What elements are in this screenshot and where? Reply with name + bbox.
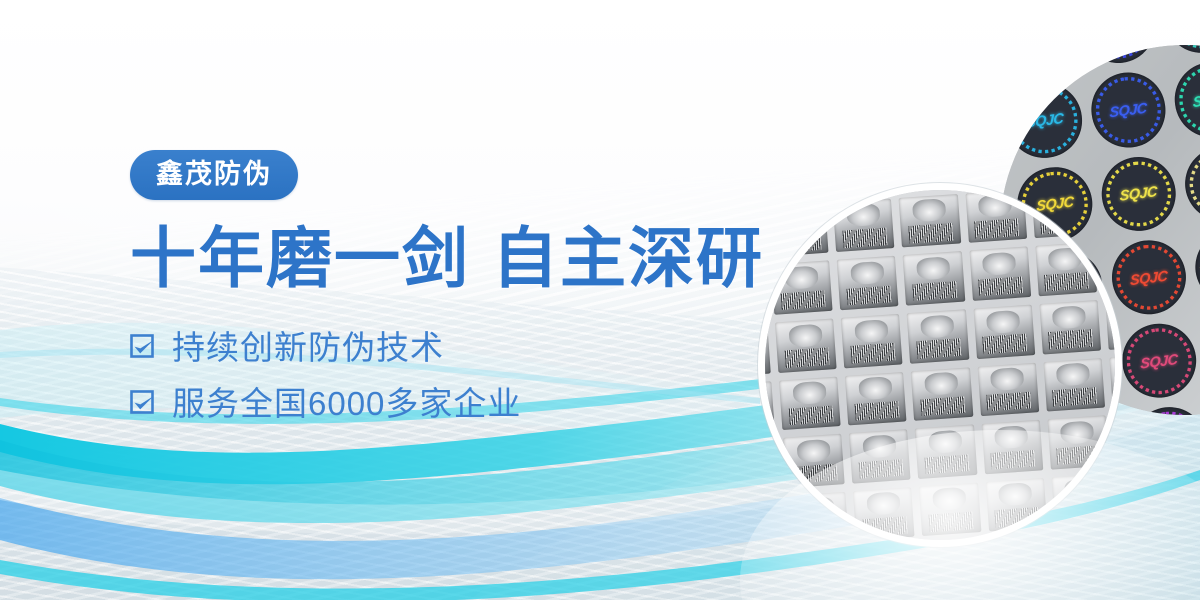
holo-label: SQJC: [1107, 236, 1190, 319]
holo-label: SQJC: [1127, 403, 1200, 415]
holo-label: SQJC: [1170, 58, 1200, 141]
silver-label: [973, 304, 1035, 358]
silver-label: [915, 425, 977, 479]
holo-label: SQJC: [1180, 142, 1200, 225]
silver-label: [907, 309, 969, 363]
page-title: 十年磨一剑自主深研: [130, 224, 770, 293]
silver-label: [911, 367, 973, 421]
silver-label: [787, 492, 849, 546]
holo-label-text: SQJC: [1193, 89, 1200, 111]
silver-label: [903, 251, 965, 305]
promo-banner: SQJC SQJC SQJC SQJC SQJC SQJC SQJC SQJC …: [0, 0, 1200, 600]
checkbox-checked-icon: [130, 334, 156, 360]
silver-label: [899, 194, 961, 248]
silver-label: [767, 203, 829, 257]
holo-label-text: SQJC: [1109, 99, 1146, 121]
silver-label: [841, 314, 903, 368]
silver-label: [977, 362, 1039, 416]
checkbox-checked-icon: [130, 390, 156, 416]
holo-label-text: SQJC: [1130, 266, 1167, 288]
silver-label: [845, 371, 907, 425]
silver-label: [775, 318, 837, 372]
silver-label: [1035, 242, 1097, 296]
list-item: 服务全国6000多家企业: [130, 375, 770, 431]
headline-part-2: 自主深研: [492, 221, 764, 295]
holo-label-text: SQJC: [1140, 350, 1177, 372]
feature-list: 持续创新防伪技术 服务全国6000多家企业: [130, 319, 770, 431]
list-item: 持续创新防伪技术: [130, 319, 770, 375]
holo-label: SQJC: [1160, 45, 1200, 57]
silver-label: [981, 420, 1043, 474]
silver-label: [965, 189, 1027, 243]
list-item-label: 服务全国6000多家企业: [172, 387, 521, 420]
silver-label: [985, 478, 1047, 532]
headline-part-1: 十年磨一剑: [130, 221, 470, 295]
silver-label-grid: [758, 183, 1122, 547]
silver-label: [919, 482, 981, 536]
silver-label: [833, 198, 895, 252]
holo-label: SQJC: [1191, 225, 1200, 308]
silver-label: [783, 434, 845, 488]
silver-label: [1047, 415, 1109, 469]
holo-label-text: SQJC: [1025, 109, 1062, 131]
silver-label: [837, 256, 899, 310]
silver-security-labels-photo: [758, 183, 1122, 547]
silver-label: [849, 429, 911, 483]
holo-label: SQJC: [1000, 45, 1075, 78]
holo-label: SQJC: [1076, 45, 1159, 67]
holo-label: SQJC: [1000, 89, 1002, 172]
silver-label: [771, 261, 833, 315]
holo-label: SQJC: [1086, 68, 1169, 151]
silver-label: [1051, 473, 1113, 527]
holo-label: SQJC: [1117, 319, 1200, 402]
holo-label-text: SQJC: [1119, 183, 1156, 205]
silver-label: [1039, 300, 1101, 354]
silver-label: [853, 487, 915, 541]
banner-content: 鑫茂防伪 十年磨一剑自主深研 持续创新防伪技术: [130, 150, 770, 431]
holo-label: SQJC: [1003, 78, 1086, 161]
brand-badge: 鑫茂防伪: [130, 150, 298, 200]
silver-label: [1031, 184, 1093, 238]
silver-label: [779, 376, 841, 430]
silver-label: [969, 247, 1031, 301]
holo-label-text: SQJC: [1015, 45, 1052, 47]
list-item-label: 持续创新防伪技术: [172, 331, 444, 364]
silver-label: [1043, 358, 1105, 412]
